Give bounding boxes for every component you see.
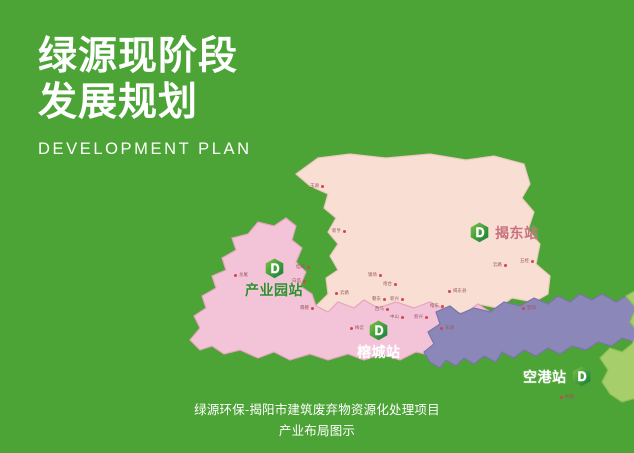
town-dot-icon: [440, 327, 443, 330]
town-marker: 云路: [335, 290, 349, 296]
lvyuan-logo-icon: [470, 222, 489, 243]
station-marker-chanyeyuan[interactable]: 产业园站: [245, 258, 303, 300]
town-label: 揭东县: [453, 288, 466, 294]
town-dot-icon: [560, 396, 563, 399]
town-label: 云路: [493, 262, 502, 268]
town-marker: 霖磐: [300, 305, 314, 311]
town-dot-icon: [350, 327, 353, 330]
town-label: 云路: [340, 290, 349, 296]
town-dot-icon: [394, 283, 397, 286]
town-marker: 西马: [375, 306, 389, 312]
town-dot-icon: [448, 290, 451, 293]
town-dot-icon: [504, 264, 507, 267]
title-block: 绿源现阶段 发展规划 DEVELOPMENT PLAN: [38, 34, 338, 159]
town-dot-icon: [307, 266, 310, 269]
town-label: 炮台: [383, 281, 392, 287]
town-dot-icon: [425, 316, 428, 319]
town-label: 登岗: [527, 305, 536, 311]
station-marker-konggang[interactable]: 空港站: [523, 366, 591, 387]
town-dot-icon: [303, 280, 306, 283]
town-marker: 榕东: [430, 303, 444, 309]
town-marker: 玉湖: [310, 183, 324, 189]
town-label: 锡场: [368, 272, 377, 278]
town-label: 五经: [520, 258, 529, 264]
town-marker: 云路: [493, 262, 507, 268]
town-marker: 磐东: [372, 296, 386, 302]
station-marker-jiedong[interactable]: 揭东站: [470, 222, 539, 243]
town-dot-icon: [311, 307, 314, 310]
town-label: 磐东: [372, 296, 381, 302]
town-dot-icon: [234, 274, 237, 277]
town-marker: 炮台: [383, 281, 397, 287]
town-marker: 新兴: [414, 314, 428, 320]
town-dot-icon: [531, 260, 534, 263]
station-label-jiedong: 揭东站: [495, 223, 539, 243]
town-label: 榕东: [430, 303, 439, 309]
town-marker: 锡场: [368, 272, 382, 278]
title-cn-line2: 发展规划: [38, 80, 338, 126]
town-marker: 揭东县: [448, 288, 466, 294]
town-dot-icon: [401, 316, 404, 319]
town-dot-icon: [522, 307, 525, 310]
town-dot-icon: [441, 305, 444, 308]
town-dot-icon: [386, 308, 389, 311]
town-label: 新兴: [390, 296, 399, 302]
title-en-subtitle: DEVELOPMENT PLAN: [38, 140, 338, 159]
station-marker-rongcheng[interactable]: 榕城站: [357, 320, 401, 362]
town-label: 东湖: [445, 325, 454, 331]
station-label-chanyeyuan: 产业园站: [245, 280, 303, 300]
town-marker: 登岗: [522, 305, 536, 311]
town-dot-icon: [321, 185, 324, 188]
poster-canvas: 绿源现阶段 发展规划 DEVELOPMENT PLAN 玉湖新亨锡场桂岭白塔云路…: [0, 0, 634, 453]
town-dot-icon: [343, 230, 346, 233]
town-marker: 五经: [520, 258, 534, 264]
lvyuan-logo-icon: [572, 366, 591, 387]
town-dot-icon: [401, 298, 404, 301]
town-marker: 新兴: [390, 296, 404, 302]
town-label: 新亨: [332, 228, 341, 234]
lvyuan-logo-icon: [265, 258, 284, 279]
town-label: 玉湖: [310, 183, 319, 189]
town-label: 新兴: [414, 314, 423, 320]
caption-block: 绿源环保-揭阳市建筑废弃物资源化处理项目 产业布局图示: [0, 400, 634, 442]
town-marker: 新亨: [332, 228, 346, 234]
town-marker: 东湖: [440, 325, 454, 331]
caption-line-1: 绿源环保-揭阳市建筑废弃物资源化处理项目: [0, 400, 634, 421]
town-dot-icon: [379, 274, 382, 277]
station-label-rongcheng: 榕城站: [357, 342, 401, 362]
lvyuan-logo-icon: [369, 320, 388, 341]
town-label: 霖磐: [300, 305, 309, 311]
town-dot-icon: [383, 298, 386, 301]
title-cn-line1: 绿源现阶段: [38, 34, 338, 80]
station-label-konggang: 空港站: [523, 367, 567, 387]
caption-line-2: 产业布局图示: [0, 421, 634, 442]
town-label: 西马: [375, 306, 384, 312]
town-dot-icon: [335, 292, 338, 295]
